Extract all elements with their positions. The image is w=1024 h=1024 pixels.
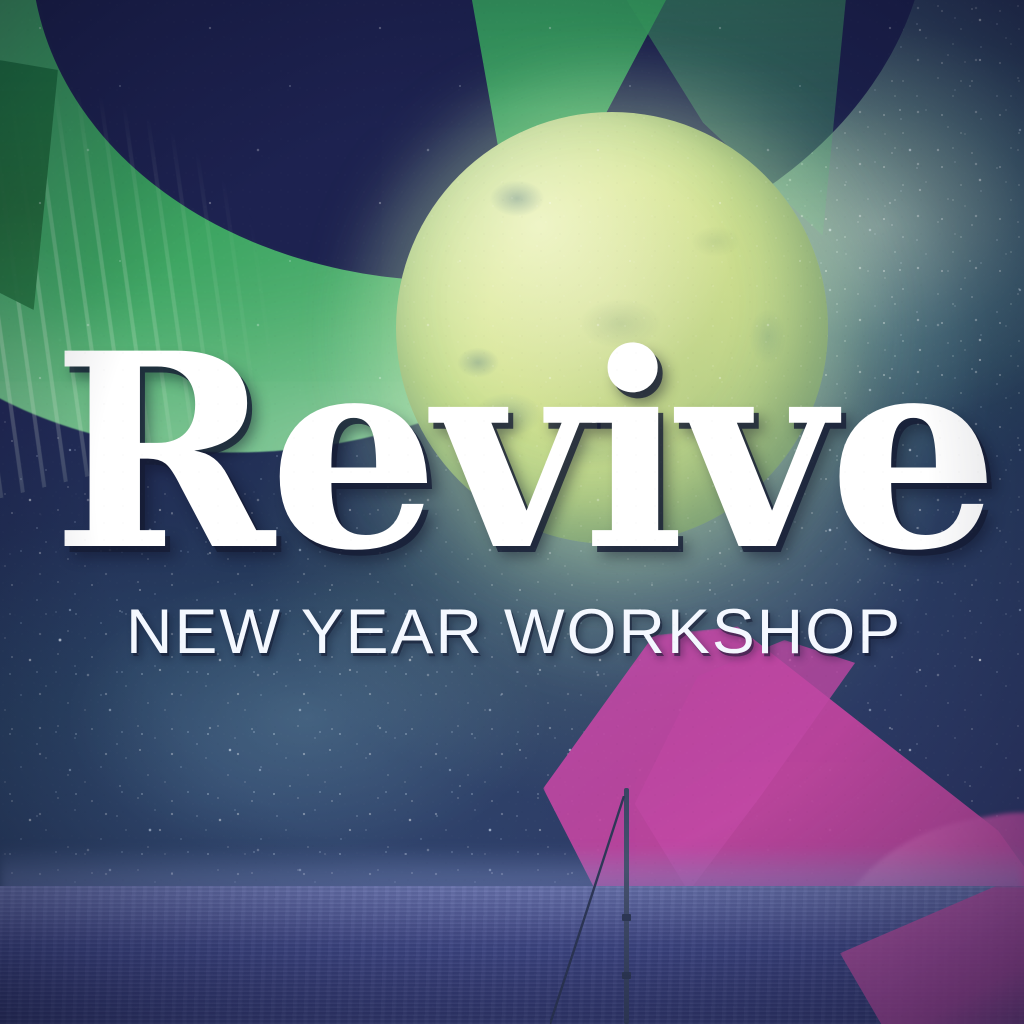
poster-canvas: Revive NEW YEAR WORKSHOP bbox=[0, 0, 1024, 1024]
mast-fitting-lower bbox=[622, 972, 631, 979]
mast-fitting-upper bbox=[622, 914, 631, 921]
mast-stay-line bbox=[550, 796, 630, 1024]
page-subtitle: NEW YEAR WORKSHOP bbox=[126, 596, 1024, 668]
page-title: Revive bbox=[52, 330, 992, 577]
sailboat-mast bbox=[540, 786, 720, 1024]
